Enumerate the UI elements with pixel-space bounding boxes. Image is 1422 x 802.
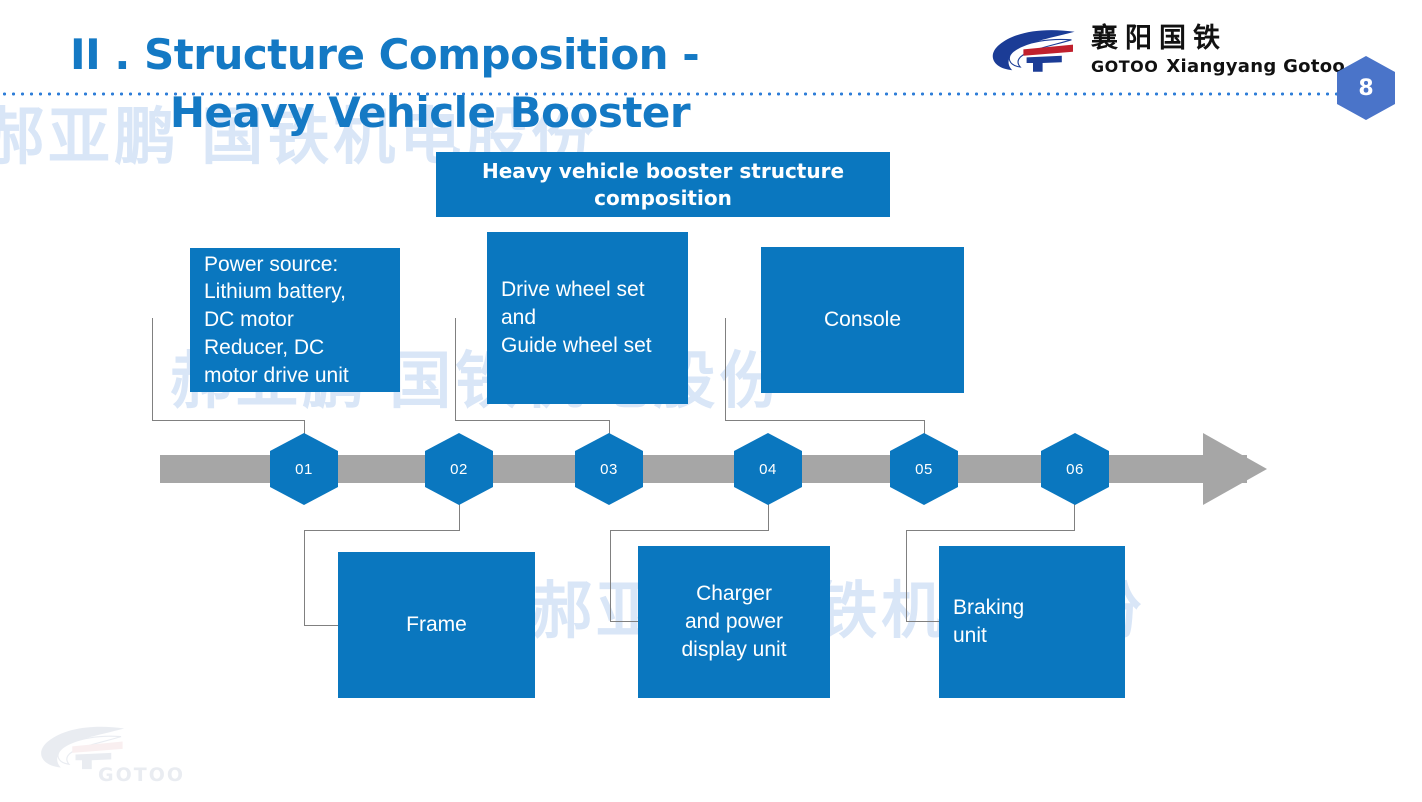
step-box-label: Charger and power display unit	[652, 580, 816, 663]
brand-english-name: Xiangyang Gotoo	[1166, 56, 1345, 77]
timeline-arrow-head-icon	[1203, 433, 1267, 505]
logo-text-block: 襄阳国铁 GOTOO Xiangyang Gotoo	[1091, 24, 1345, 77]
connector-line	[304, 530, 460, 531]
diagram-banner-title: Heavy vehicle booster structure composit…	[436, 152, 890, 217]
connector-line	[1074, 503, 1075, 531]
connector-line	[455, 420, 610, 421]
connector-line	[610, 530, 611, 622]
page-title-line-1: II . Structure Composition -	[70, 30, 699, 79]
connector-line	[459, 503, 460, 531]
footer-logo-watermark: GOTOO	[18, 722, 198, 788]
step-box-06-braking-unit[interactable]: Braking unit	[939, 546, 1125, 698]
step-hexagon-03[interactable]: 03	[575, 433, 643, 505]
brand-latin-row: GOTOO Xiangyang Gotoo	[1091, 56, 1345, 77]
step-box-05-console[interactable]: Console	[761, 247, 964, 393]
page-title-line-2: Heavy Vehicle Booster	[70, 84, 790, 142]
connector-line	[725, 318, 726, 421]
step-hexagon-04[interactable]: 04	[734, 433, 802, 505]
connector-line	[768, 503, 769, 531]
brand-latin-small: GOTOO	[1091, 57, 1158, 76]
step-hexagon-06[interactable]: 06	[1041, 433, 1109, 505]
step-box-02-frame[interactable]: Frame	[338, 552, 535, 698]
page-title: II . Structure Composition - Heavy Vehic…	[70, 26, 790, 142]
step-box-04-charger[interactable]: Charger and power display unit	[638, 546, 830, 698]
step-box-01-power-source[interactable]: Power source: Lithium battery, DC motor …	[190, 248, 400, 392]
slide-canvas: 郝亚鹏 国铁机电股份 郝亚鹏 国铁机电股份 郝亚鹏 国铁机电股份 II . St…	[0, 0, 1422, 802]
company-logo: 襄阳国铁 GOTOO Xiangyang Gotoo	[985, 24, 1345, 77]
connector-line	[152, 420, 305, 421]
connector-line	[455, 318, 456, 421]
step-box-03-wheel-sets[interactable]: Drive wheel set and Guide wheel set	[487, 232, 688, 404]
connector-line	[906, 530, 1075, 531]
brand-chinese-name: 襄阳国铁	[1091, 24, 1227, 54]
connector-line	[725, 420, 925, 421]
step-box-label: Braking unit	[953, 594, 1024, 649]
step-hexagon-02[interactable]: 02	[425, 433, 493, 505]
step-box-label: Frame	[352, 611, 521, 639]
step-box-label: Power source: Lithium battery, DC motor …	[204, 251, 349, 390]
connector-line	[152, 318, 153, 421]
step-hexagon-01[interactable]: 01	[270, 433, 338, 505]
step-hexagon-05[interactable]: 05	[890, 433, 958, 505]
step-box-label: Drive wheel set and Guide wheel set	[501, 276, 652, 359]
connector-line	[610, 530, 769, 531]
connector-line	[906, 530, 907, 622]
page-number-badge: 8	[1337, 56, 1395, 120]
footer-brand-text: GOTOO	[98, 764, 185, 786]
gotoo-gf-logo-icon	[985, 25, 1081, 77]
connector-line	[304, 530, 305, 626]
step-box-label: Console	[775, 306, 950, 334]
